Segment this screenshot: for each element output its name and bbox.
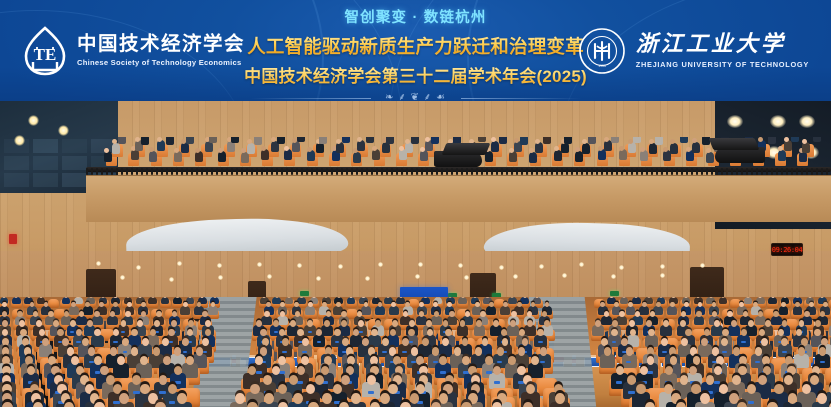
- railing-bar: [761, 168, 763, 175]
- attendee-head: [132, 375, 141, 385]
- railing-bar: [651, 168, 653, 175]
- attendee-body: [645, 335, 658, 347]
- society-logo: TE 中国技术经济学会 Chinese Society of Technolog…: [22, 0, 245, 101]
- balcony-attendee-head: [149, 147, 154, 152]
- balcony-attendee: [131, 149, 139, 160]
- attendee-head: [445, 329, 451, 336]
- railing-bar: [811, 168, 813, 175]
- balcony-attendee: [231, 137, 239, 143]
- attendee-head: [19, 320, 25, 327]
- railing-bar: [371, 168, 373, 175]
- railing-bar: [401, 168, 403, 175]
- attendee-head: [747, 384, 756, 395]
- railing-bar: [311, 168, 313, 175]
- attendee-lanyard-badge: [382, 351, 387, 353]
- attendee-head: [306, 384, 315, 395]
- attendee-head: [511, 311, 516, 317]
- exit-sign-icon: [300, 291, 309, 296]
- attendee-head: [188, 320, 194, 327]
- grand-piano-icon: [434, 143, 490, 169]
- attendee-head: [64, 311, 69, 317]
- attendee-head: [382, 338, 389, 346]
- railing-bar: [221, 168, 223, 175]
- attendee-head: [497, 347, 504, 355]
- attendee-body: [76, 316, 87, 326]
- railing-bar: [366, 168, 368, 175]
- attendee-head: [22, 338, 29, 346]
- railing-bar: [341, 168, 343, 175]
- balcony-attendee: [336, 142, 344, 153]
- attendee-head: [280, 311, 285, 317]
- ceiling-downlight: [136, 265, 141, 270]
- railing-bar: [386, 168, 388, 175]
- railing-bar: [691, 168, 693, 175]
- attendee-head: [302, 338, 309, 346]
- balcony-attendee: [768, 137, 776, 144]
- attendee-lanyard-badge: [169, 341, 173, 343]
- balcony-attendee: [218, 151, 226, 162]
- banner-main-title: 人工智能驱动新质生产力跃迁和治理变革: [216, 33, 616, 59]
- balcony-attendee-head: [425, 137, 430, 142]
- attendee-body: [285, 297, 294, 304]
- attendee-lanyard-badge: [123, 351, 128, 353]
- ceiling-downlight: [378, 262, 383, 267]
- railing-bar: [126, 168, 128, 175]
- attendee-body: [321, 325, 333, 336]
- attendee-head: [773, 311, 778, 317]
- railing-bar: [751, 168, 753, 175]
- ceiling-downlight: [579, 262, 584, 267]
- railing-bar: [496, 168, 498, 175]
- attendee-lanyard-badge: [302, 351, 307, 353]
- attendee-head: [493, 366, 501, 375]
- attendee-head: [248, 366, 256, 375]
- divider-ornament-icon: ❧ ⸙ ❦ ⸙ ☙: [385, 92, 446, 101]
- attendee-head: [62, 338, 69, 346]
- attendee-head: [371, 329, 377, 336]
- attendee-head: [64, 402, 74, 407]
- balcony-attendee: [784, 140, 792, 151]
- grand-piano-icon: [705, 137, 765, 167]
- attendee-head: [402, 338, 409, 346]
- attendee-head: [341, 375, 350, 385]
- attendee-body: [719, 297, 728, 304]
- balcony-level: [86, 137, 831, 221]
- balcony-attendee: [254, 137, 262, 145]
- railing-bar: [656, 168, 658, 175]
- attendee-head: [57, 329, 63, 336]
- attendee-head: [307, 320, 313, 327]
- railing-bar: [191, 168, 193, 175]
- railing-bar: [626, 168, 628, 175]
- attendee-head: [202, 311, 207, 317]
- attendee-head: [182, 338, 189, 346]
- attendee-head: [656, 302, 661, 307]
- attendee-head: [527, 311, 532, 317]
- attendee-body: [396, 297, 405, 304]
- stage-spotlight: [727, 115, 743, 128]
- attendee-head: [168, 329, 174, 336]
- attendee-head: [36, 320, 42, 327]
- ornament-divider: ❧ ⸙ ❦ ⸙ ☙: [251, 92, 581, 101]
- attendee-head: [696, 311, 701, 317]
- window-pane: [33, 139, 58, 153]
- railing-bar: [151, 168, 153, 175]
- attendee-head: [714, 320, 720, 327]
- attendee-head: [739, 356, 747, 365]
- attendee-body: [431, 316, 442, 326]
- balcony-attendee-head: [598, 146, 603, 151]
- railing-bar: [251, 168, 253, 175]
- railing-bar: [696, 168, 698, 175]
- attendee-head: [341, 320, 347, 327]
- attendee-head: [812, 366, 820, 375]
- ceiling-downlight: [338, 264, 343, 269]
- attendee-head: [289, 375, 298, 385]
- balcony-attendee: [411, 137, 419, 144]
- balcony-attendee: [118, 137, 126, 144]
- railing-bar: [686, 168, 688, 175]
- railing-bar: [431, 168, 433, 175]
- attendee-head: [461, 402, 471, 407]
- attendee-head: [409, 320, 415, 327]
- attendee-head: [94, 329, 100, 336]
- balcony-attendee: [499, 137, 507, 144]
- balcony-attendee: [655, 137, 663, 145]
- railing-bar: [351, 168, 353, 175]
- balcony-attendee-head: [604, 137, 609, 142]
- event-banner: TE 中国技术经济学会 Chinese Society of Technolog…: [0, 0, 831, 101]
- balcony-attendee-head: [640, 147, 645, 152]
- attendee-head: [787, 366, 795, 375]
- railing-bar: [106, 168, 108, 175]
- railing-bar: [776, 168, 778, 175]
- attendee-head: [648, 329, 654, 336]
- attendee-head: [635, 311, 640, 317]
- attendee-head: [676, 402, 686, 407]
- balcony-attendee: [791, 137, 799, 142]
- attendee-lanyard-badge: [820, 361, 825, 364]
- railing-bar: [526, 168, 528, 175]
- attendee-head: [94, 402, 104, 407]
- attendee-head: [122, 338, 129, 346]
- railing-bar: [801, 168, 803, 175]
- attendee-head: [262, 338, 269, 346]
- attendee-body: [744, 297, 753, 304]
- attendee-head: [611, 329, 617, 336]
- attendee-head: [468, 366, 476, 375]
- railing-bar: [726, 168, 728, 175]
- balcony-attendee: [405, 142, 413, 153]
- railing-bar: [826, 168, 828, 175]
- attendee-head: [743, 311, 748, 317]
- railing-bar: [336, 168, 338, 175]
- attendee-head: [392, 320, 398, 327]
- attendee-head: [367, 375, 376, 385]
- attendee-head: [324, 320, 330, 327]
- railing-bar: [206, 168, 208, 175]
- railing-bar: [546, 168, 548, 175]
- attendee-head: [334, 329, 340, 336]
- railing-bar: [511, 168, 513, 175]
- attendee-lanyard-badge: [76, 341, 80, 343]
- attendee-head: [100, 366, 108, 375]
- attendee-lanyard-badge: [203, 351, 208, 353]
- attendee-head: [523, 402, 533, 407]
- attendee-body: [173, 297, 182, 304]
- attendee-body: [639, 306, 649, 315]
- attendee-head: [680, 320, 686, 327]
- window-pane: [4, 173, 29, 187]
- attendee-body: [601, 316, 612, 326]
- railing-bar: [201, 168, 203, 175]
- attendee-lanyard-badge: [70, 331, 74, 333]
- main-audience-seating: [0, 297, 831, 407]
- attendee-head: [273, 320, 279, 327]
- balcony-attendee-head: [218, 148, 223, 153]
- railing-bar: [451, 168, 453, 175]
- attendee-head: [183, 302, 188, 307]
- railing-bar: [636, 168, 638, 175]
- balcony-attendee: [588, 137, 596, 144]
- railing-bar: [216, 168, 218, 175]
- railing-bar: [146, 168, 148, 175]
- window-pane: [62, 173, 87, 187]
- railing-bar: [196, 168, 198, 175]
- railing-bar: [576, 168, 578, 175]
- railing-bar: [421, 168, 423, 175]
- stage-spotlight: [770, 115, 786, 128]
- attendee-head: [799, 320, 805, 327]
- railing-bar: [766, 168, 768, 175]
- railing-bar: [571, 168, 573, 175]
- railing-bar: [96, 168, 98, 175]
- attendee-head: [663, 320, 669, 327]
- attendee-head: [346, 366, 354, 375]
- attendee-head: [256, 320, 262, 327]
- attendee-body: [660, 325, 672, 336]
- railing-bar: [121, 168, 123, 175]
- attendee-head: [48, 311, 53, 317]
- attendee-head: [395, 366, 403, 375]
- attendee-head: [94, 311, 99, 317]
- balcony-attendee: [353, 152, 361, 163]
- balcony-attendee: [386, 137, 394, 144]
- railing-bar: [381, 168, 383, 175]
- attendee-lanyard-badge: [297, 381, 303, 384]
- attendee-lanyard-badge: [433, 361, 438, 364]
- attendee-head: [774, 384, 783, 395]
- attendee-head: [87, 320, 93, 327]
- railing-bar: [171, 168, 173, 175]
- balcony-attendee: [284, 149, 292, 160]
- attendee-lanyard-badge: [317, 341, 321, 343]
- attendee-head: [70, 320, 76, 327]
- attendee-body: [600, 354, 615, 368]
- attendee-lanyard-badge: [616, 381, 622, 384]
- attendee-body: [592, 325, 604, 336]
- balcony-attendee-head: [104, 148, 109, 153]
- railing-bar: [376, 168, 378, 175]
- attendee-head: [293, 393, 303, 404]
- railing-bar: [556, 168, 558, 175]
- railing-bar: [616, 168, 618, 175]
- balcony-attendee: [174, 151, 182, 162]
- railing-bar: [646, 168, 648, 175]
- railing-bar: [806, 168, 808, 175]
- balcony-attendee: [778, 150, 786, 161]
- attendee-lanyard-badge: [183, 351, 188, 353]
- railing-bar: [741, 168, 743, 175]
- railing-bar: [476, 168, 478, 175]
- railing-bar: [111, 168, 113, 175]
- attendee-body: [632, 297, 641, 304]
- attendee-head: [33, 311, 38, 317]
- attendee-head: [680, 375, 689, 385]
- attendee-head: [196, 347, 203, 355]
- attendee-head: [17, 311, 22, 317]
- ceiling-downlight: [464, 275, 469, 280]
- railing-bar: [746, 168, 748, 175]
- attendee-head: [731, 320, 737, 327]
- railing-bar: [266, 168, 268, 175]
- attendee-head: [411, 347, 418, 355]
- attendee-head: [804, 311, 809, 317]
- banner-sub-title: 中国技术经济学会第三十二届学术年会(2025): [216, 62, 616, 87]
- railing-bar: [286, 168, 288, 175]
- railing-bar: [631, 168, 633, 175]
- railing-bar: [356, 168, 358, 175]
- attendee-lanyard-badge: [494, 381, 500, 384]
- railing-bar: [296, 168, 298, 175]
- balcony-attendee: [535, 142, 543, 153]
- balcony-attendee: [157, 140, 165, 151]
- balcony-attendee: [261, 149, 269, 160]
- attendee-lanyard-badge: [440, 371, 446, 374]
- attendee-lanyard-badge: [368, 391, 374, 394]
- railing-bar: [716, 168, 718, 175]
- attendee-head: [810, 375, 819, 385]
- railing-bar: [586, 168, 588, 175]
- attendee-head: [636, 384, 645, 395]
- attendee-head: [442, 338, 449, 346]
- railing-bar: [731, 168, 733, 175]
- railing-bar: [591, 168, 593, 175]
- balcony-attendee-head: [261, 146, 266, 151]
- ceiling-downlight: [700, 263, 705, 268]
- window-pane: [62, 139, 87, 153]
- window-pane: [33, 173, 58, 187]
- attendee-head: [595, 320, 601, 327]
- attendee-head: [732, 375, 741, 385]
- balcony-attendee: [372, 149, 380, 160]
- attendee-head: [263, 375, 272, 385]
- attendee-head: [665, 366, 673, 375]
- railing-bar: [771, 168, 773, 175]
- railing-bar: [701, 168, 703, 175]
- railing-bar: [291, 168, 293, 175]
- railing-bar: [661, 168, 663, 175]
- attendee-body: [458, 297, 467, 304]
- ceiling-lamp: [28, 115, 39, 126]
- attendee-body: [500, 306, 510, 315]
- railing-bar: [666, 168, 668, 175]
- window-pane: [4, 156, 29, 170]
- attendee-head: [426, 320, 432, 327]
- attendee-lanyard-badge: [308, 331, 312, 333]
- railing-bar: [486, 168, 488, 175]
- attendee-head: [341, 311, 346, 317]
- attendee-body: [768, 297, 777, 304]
- attendee-head: [172, 311, 177, 317]
- attendee-head: [53, 320, 59, 327]
- railing-bar: [536, 168, 538, 175]
- attendee-head: [755, 347, 762, 355]
- attendee-head: [141, 311, 146, 317]
- balcony-attendee-head: [514, 138, 519, 143]
- balcony-attendee: [166, 137, 174, 145]
- railing-bar: [706, 168, 708, 175]
- balcony-attendee-head: [784, 137, 789, 142]
- balcony-attendee-head: [181, 139, 186, 144]
- attendee-head: [325, 347, 332, 355]
- attendee-body: [12, 297, 21, 304]
- attendee-head: [716, 356, 724, 365]
- attendee-body: [620, 297, 629, 304]
- railing-bar: [441, 168, 443, 175]
- attendee-head: [489, 302, 494, 307]
- railing-bar: [261, 168, 263, 175]
- railing-bar: [521, 168, 523, 175]
- attendee-head: [342, 338, 349, 346]
- balcony-attendee-head: [619, 146, 624, 151]
- university-logo: 1953 浙江工业大学 ZHEJIANG UNIVERSITY OF TECHN…: [578, 0, 809, 101]
- attendee-head: [322, 302, 327, 307]
- railing-bar: [141, 168, 143, 175]
- emergency-light-icon: [9, 234, 17, 244]
- attendee-head: [308, 402, 318, 407]
- attendee-head: [527, 320, 533, 327]
- attendee-head: [619, 311, 624, 317]
- balcony-attendee-head: [174, 148, 179, 153]
- railing-bar: [791, 168, 793, 175]
- attendee-head: [422, 338, 429, 346]
- ceiling-downlight: [415, 274, 420, 279]
- attendee-head: [82, 338, 89, 346]
- attendee-head: [177, 393, 187, 404]
- attendee-head: [156, 311, 161, 317]
- railing-bar: [136, 168, 138, 175]
- railing-bar: [541, 168, 543, 175]
- attendee-head: [612, 320, 618, 327]
- attendee-lanyard-badge: [169, 401, 176, 404]
- balcony-attendee-head: [405, 139, 410, 144]
- railing-bar: [406, 168, 408, 175]
- attendee-head: [76, 366, 84, 375]
- railing-bar: [446, 168, 448, 175]
- balcony-attendee-head: [284, 146, 289, 151]
- attendee-body: [261, 316, 272, 326]
- university-logo-text: 浙江工业大学 ZHEJIANG UNIVERSITY OF TECHNOLOGY: [636, 32, 809, 68]
- railing-bar: [301, 168, 303, 175]
- balcony-front-panel: [86, 175, 831, 222]
- railing-bar: [416, 168, 418, 175]
- attendee-head: [110, 347, 117, 355]
- attendee-head: [443, 320, 449, 327]
- attendee-body: [793, 306, 803, 315]
- attendee-head: [67, 347, 74, 355]
- railing-bar: [131, 168, 133, 175]
